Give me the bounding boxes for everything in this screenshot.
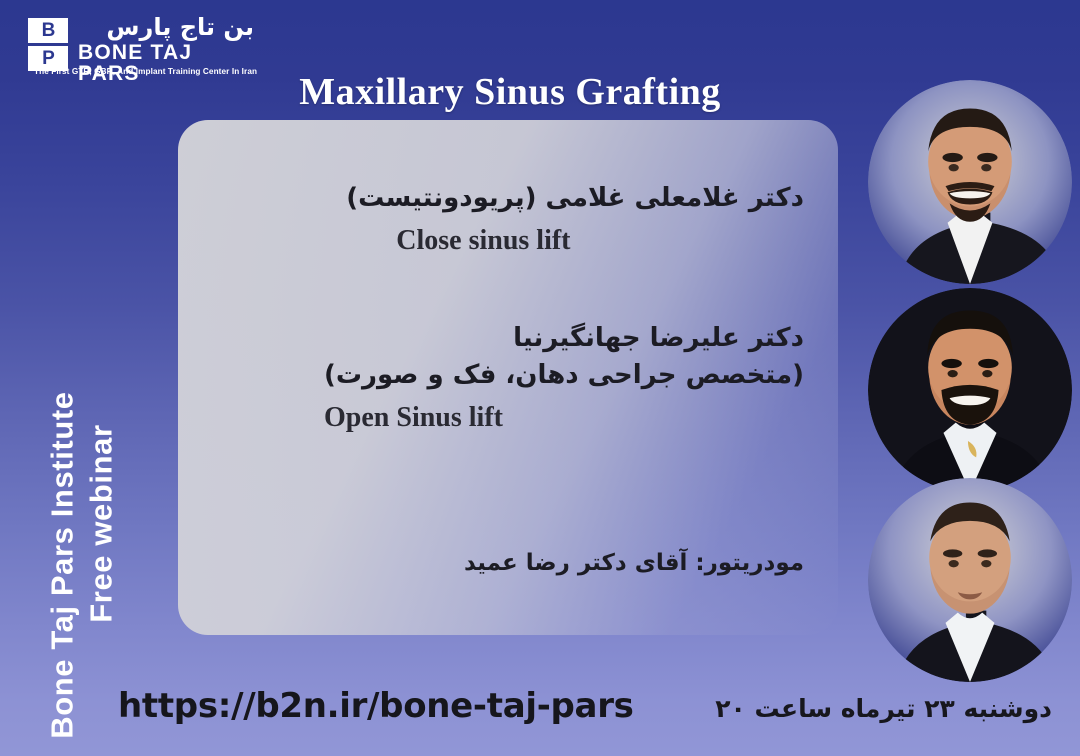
speakers-panel: دکتر غلامعلی غلامی (پریودونتیست) Close s… <box>178 120 838 635</box>
speaker-1-topic: Close sinus lift <box>346 225 804 257</box>
speaker-entry-2: دکتر علیرضا جهانگیرنیا (متخصص جراحی دهان… <box>324 320 804 434</box>
speaker-2-portrait <box>868 288 1072 492</box>
page-title: Maxillary Sinus Grafting <box>200 70 820 114</box>
speaker-1-portrait <box>868 80 1072 284</box>
speaker-entry-1: دکتر غلامعلی غلامی (پریودونتیست) Close s… <box>346 180 804 257</box>
speaker-1-name: دکتر غلامعلی غلامی (پریودونتیست) <box>346 180 804 217</box>
event-date: دوشنبه ۲۳ تیرماه ساعت ۲۰ <box>715 694 1052 723</box>
moderator-portrait <box>868 478 1072 682</box>
logo-monogram-icon: B P <box>26 18 78 72</box>
speaker-2-topic: Open Sinus lift <box>324 402 804 434</box>
institute-name: Bone Taj Pars Institute <box>43 391 82 738</box>
free-webinar-label: Free webinar <box>82 424 121 622</box>
speaker-2-name: دکتر علیرضا جهانگیرنیا <box>324 320 804 357</box>
speaker-2-specialty: (متخصص جراحی دهان، فک و صورت) <box>324 357 804 394</box>
webinar-poster: B P بن تاج پارس BONE TAJ PARS The First … <box>0 0 1080 756</box>
moderator-label: مودریتور: آقای دکتر رضا عمید <box>464 550 804 576</box>
logo-persian-name: بن تاج پارس <box>78 14 254 40</box>
vertical-institute-label: Bone Taj Pars Institute Free webinar <box>43 179 121 739</box>
registration-url[interactable]: https://b2n.ir/bone-taj-pars <box>118 686 634 726</box>
logo-letter-b: B <box>28 18 68 43</box>
